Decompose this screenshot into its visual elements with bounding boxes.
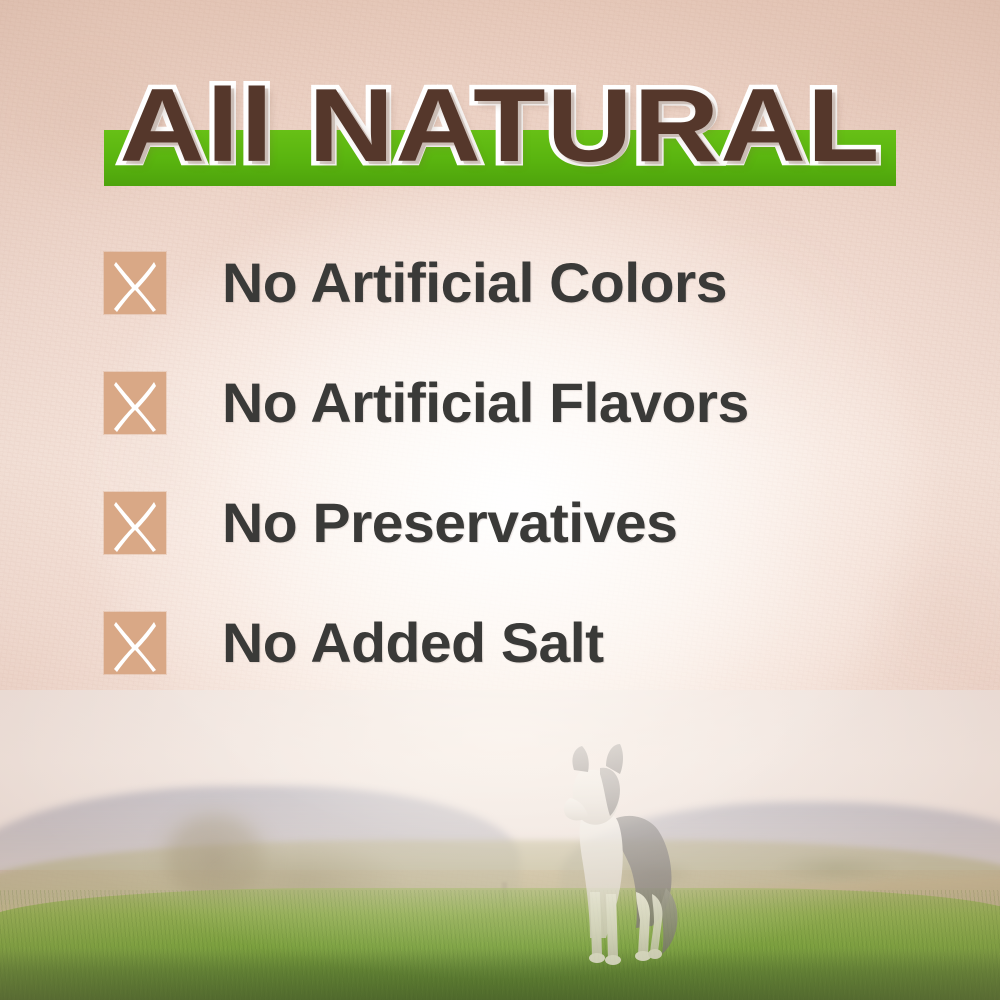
list-item-label: No Artificial Colors	[222, 255, 727, 311]
list-item-label: No Artificial Flavors	[222, 375, 749, 431]
list-item: No Artificial Flavors	[104, 372, 924, 434]
page-title: All NATURAL	[0, 74, 1000, 178]
claims-checklist: No Artificial Colors No Artificial Flavo…	[104, 252, 924, 732]
list-item-label: No Added Salt	[222, 615, 604, 671]
poster-content: All NATURAL No Artificial Colors No Arti…	[0, 0, 1000, 1000]
list-item: No Preservatives	[104, 492, 924, 554]
x-mark-icon	[104, 252, 166, 314]
list-item: No Artificial Colors	[104, 252, 924, 314]
all-natural-poster: All NATURAL No Artificial Colors No Arti…	[0, 0, 1000, 1000]
x-mark-icon	[104, 612, 166, 674]
list-item-label: No Preservatives	[222, 495, 677, 551]
x-mark-icon	[104, 372, 166, 434]
list-item: No Added Salt	[104, 612, 924, 674]
x-mark-icon	[104, 492, 166, 554]
